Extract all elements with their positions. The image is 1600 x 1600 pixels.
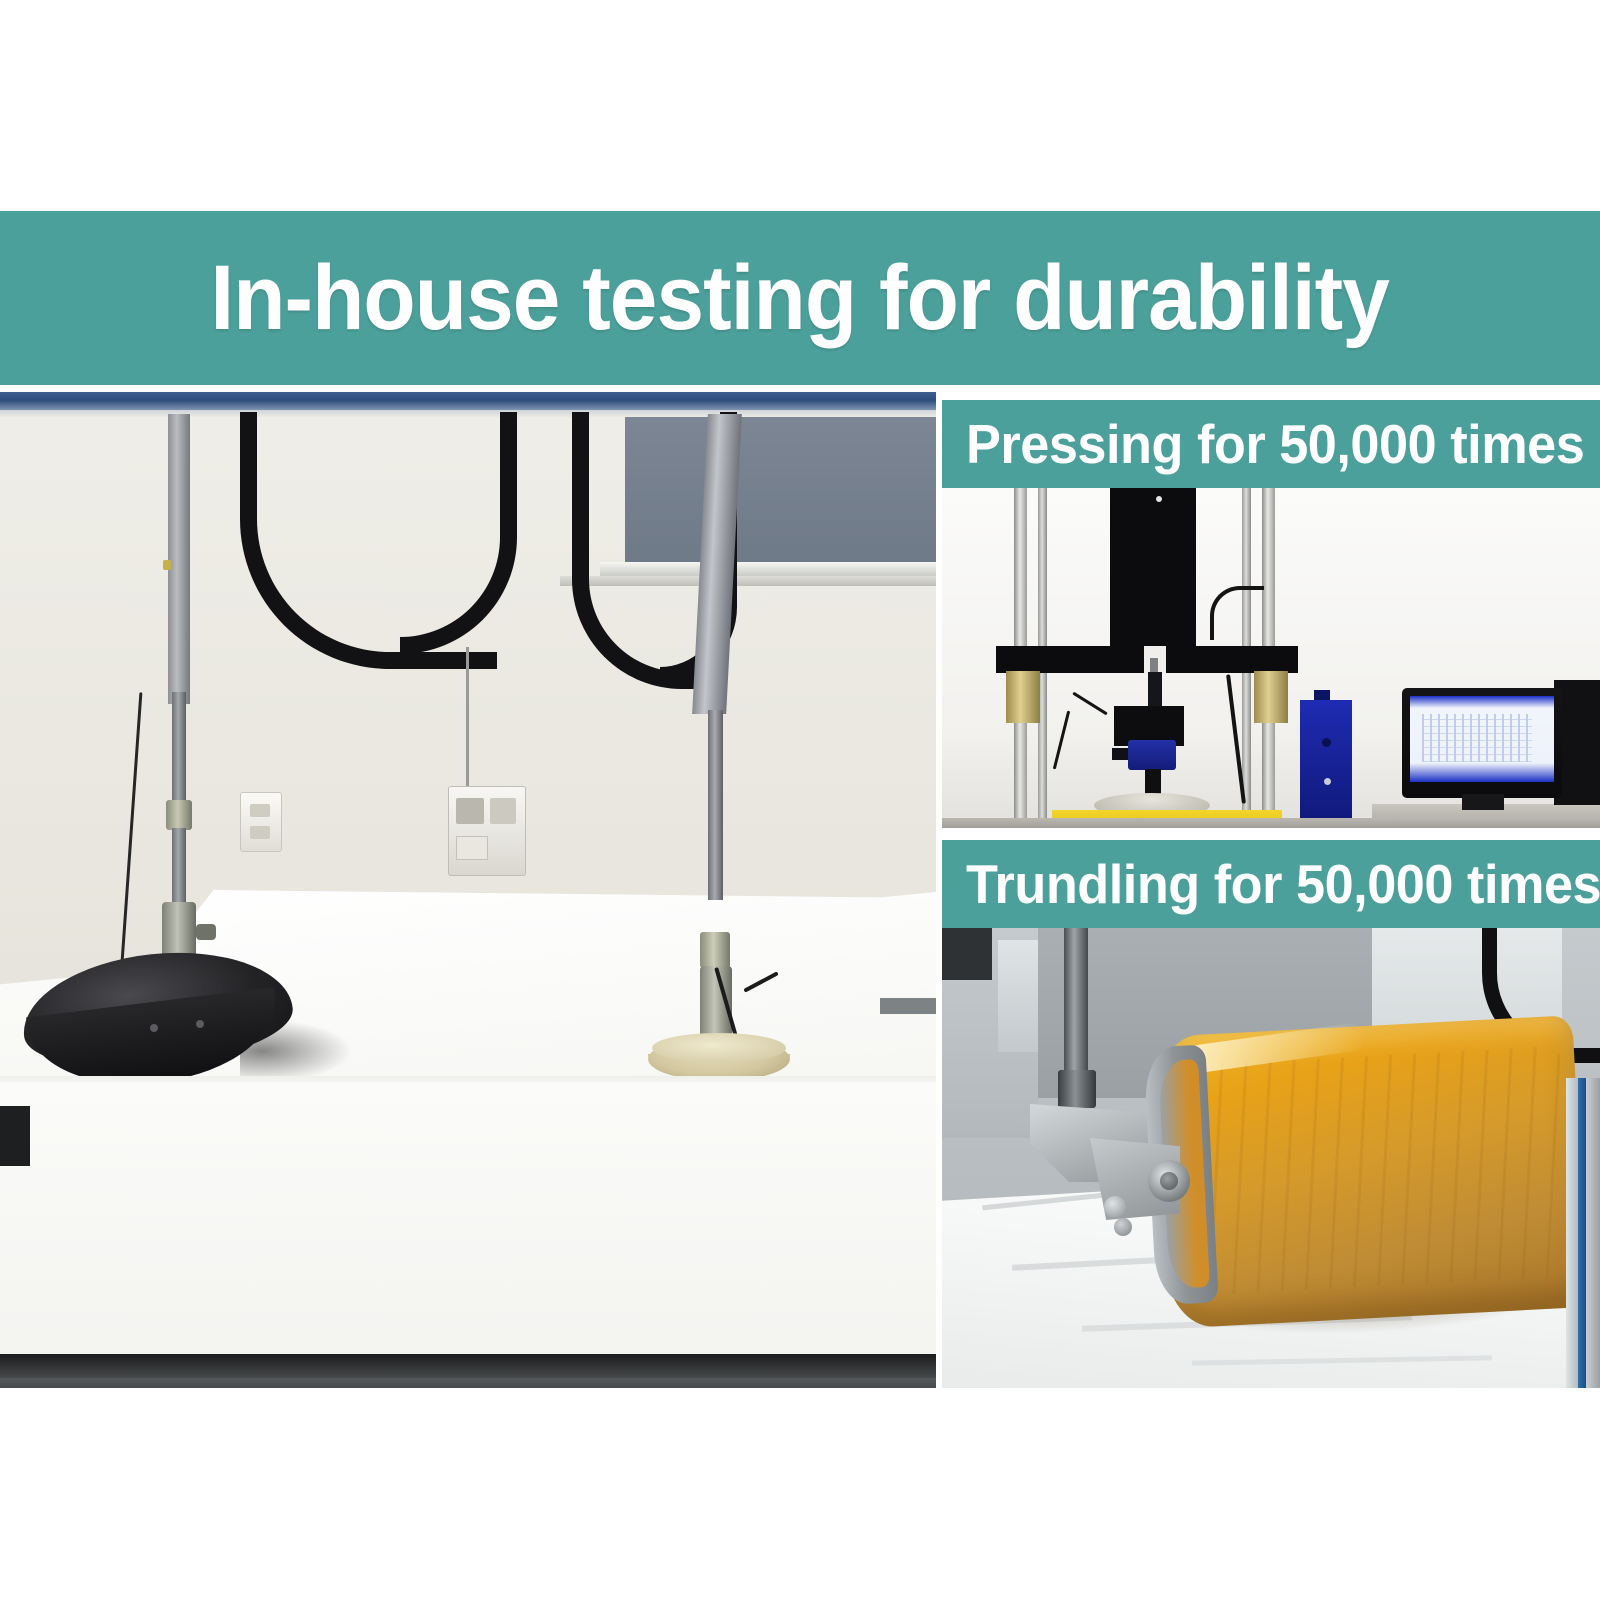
roller-hub-center [1160, 1172, 1178, 1190]
press-arm-left-upper [168, 414, 190, 704]
press-arm-left-fitting [163, 560, 171, 570]
trundle-dark-corner [942, 928, 992, 980]
machine-top-cable [1210, 586, 1264, 640]
trundle-post-clamp [1058, 1070, 1096, 1108]
page-title: In-house testing for durability [211, 252, 1390, 344]
mattress-pressing-rig-photo [0, 392, 936, 1388]
brass-column-sleeve-left [1006, 671, 1040, 723]
left-dark-object [0, 1106, 30, 1166]
wall-outlet-left-socket-top [250, 804, 270, 817]
press-arm-left-sensor-nub [196, 924, 216, 940]
trundling-caption-text: Trundling for 50,000 times [966, 857, 1600, 912]
machine-head-indicator [1156, 496, 1162, 502]
press-arm-right-rod [708, 710, 723, 900]
machine-base-rail-lower [0, 1378, 936, 1388]
blue-motor-block [1128, 740, 1176, 770]
press-arm-left-rod-lower [172, 828, 186, 908]
press-arm-left-rod [172, 692, 186, 812]
title-banner: In-house testing for durability [0, 211, 1600, 385]
machine-stem [1148, 672, 1162, 708]
machine-base-rail [0, 1354, 936, 1380]
right-photo-column: Pressing for 50,000 times [942, 392, 1600, 1388]
tan-pressing-disc-top [652, 1033, 786, 1063]
wall-outlet-left-socket-bottom [250, 826, 270, 839]
wall-outlet-right-socket-a [456, 798, 484, 824]
monitor-stand [1462, 794, 1504, 810]
press-arm-left-load-cell [162, 902, 196, 960]
machine-actuator-head [1110, 488, 1196, 658]
roller-bracket-bolt-2 [1114, 1218, 1132, 1236]
blue-control-box-knob [1322, 738, 1331, 747]
trundle-right-blue-stripe [1578, 1078, 1586, 1388]
roller-wood-grain [1172, 1046, 1574, 1296]
brass-column-sleeve-right [1254, 671, 1288, 723]
trundling-roller-photo [942, 928, 1600, 1388]
universal-testing-machine-photo [942, 488, 1600, 828]
press-arm-right-coupler [700, 932, 730, 968]
blue-control-box-led [1324, 778, 1331, 785]
wall-outlet-right-socket-b [490, 798, 516, 824]
right-counter [880, 998, 936, 1014]
pressing-caption-text: Pressing for 50,000 times [966, 417, 1584, 472]
press-arm-left-coupler [166, 800, 192, 830]
trundle-right-frame-outer [1586, 1078, 1600, 1388]
monitor-screen-chart [1422, 714, 1532, 762]
blue-control-box [1300, 700, 1352, 828]
thin-wire [466, 647, 469, 797]
roller-bracket-bolt-1 [1104, 1196, 1126, 1218]
trundle-vertical-post [1064, 928, 1088, 1078]
photo-grid: Pressing for 50,000 times [0, 392, 1600, 1388]
black-pressing-pad-rivet-2 [196, 1020, 204, 1028]
black-pressing-pad-rivet-1 [150, 1024, 158, 1032]
pressing-caption-band: Pressing for 50,000 times [942, 400, 1600, 488]
testing-lab-floor [942, 818, 1600, 828]
wall-outlet-left [240, 792, 282, 852]
mattress-front-face [0, 1082, 936, 1372]
wall-outlet-right-socket-c [456, 836, 488, 860]
blue-ceiling-rail [0, 392, 936, 410]
trundling-caption-band: Trundling for 50,000 times [942, 840, 1600, 928]
